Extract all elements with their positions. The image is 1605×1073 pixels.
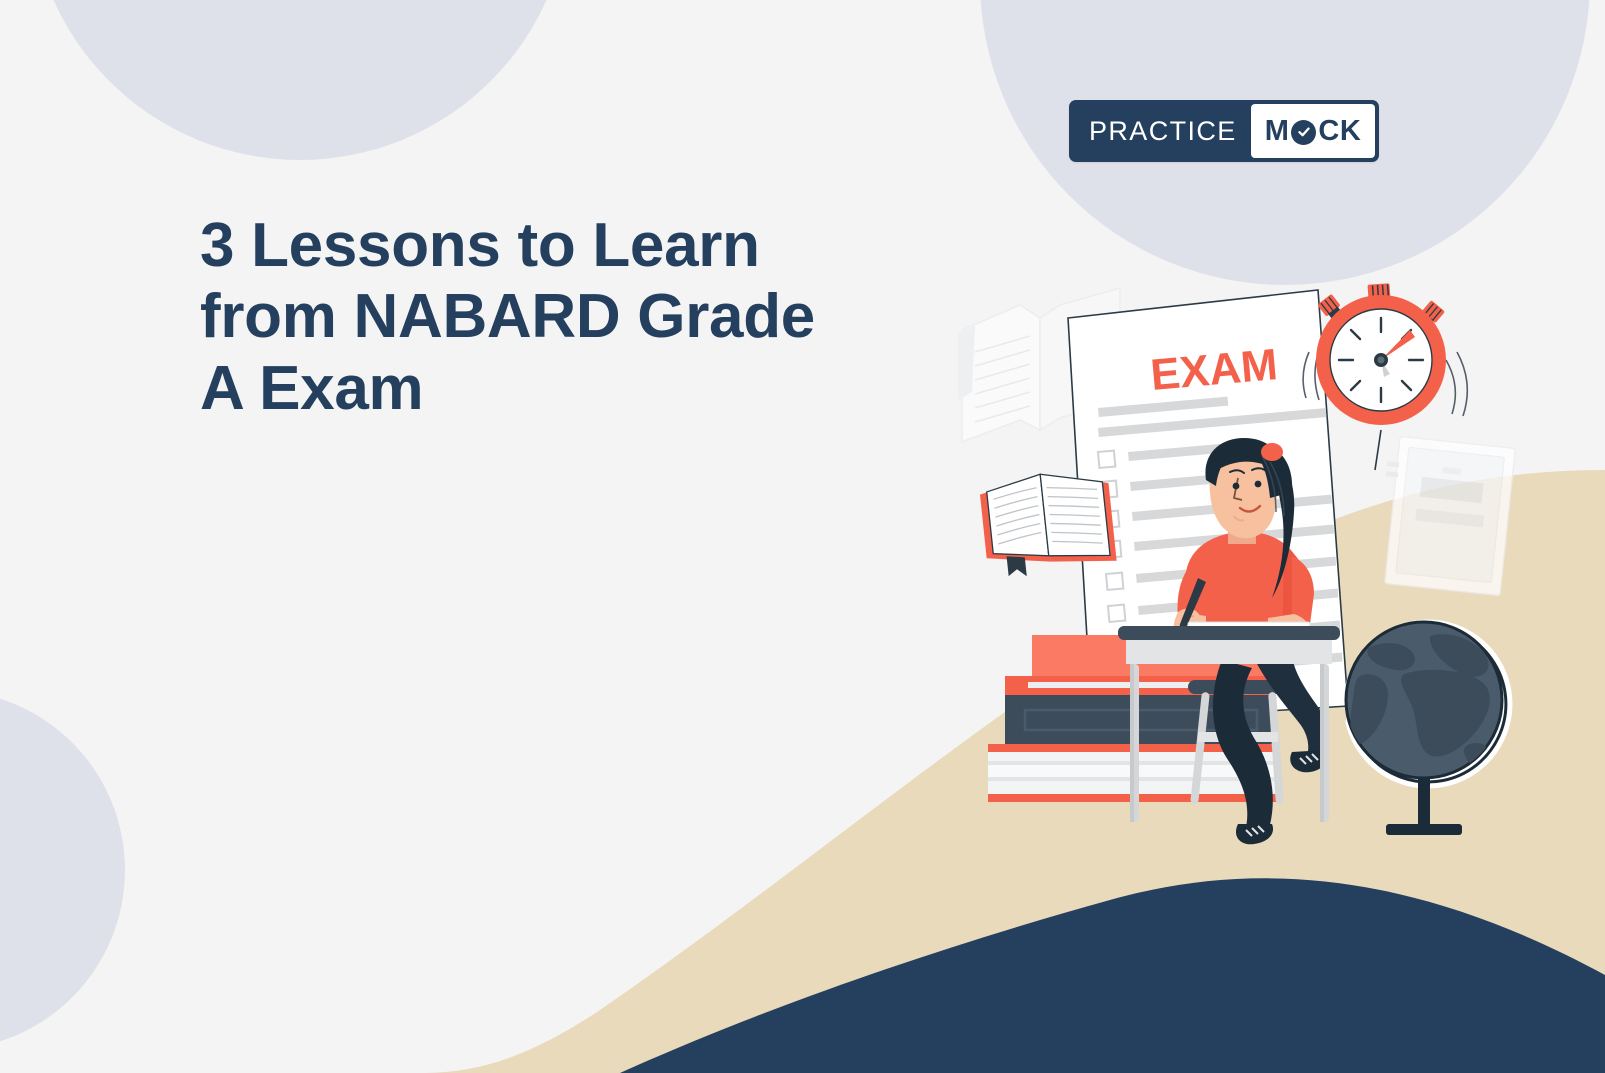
logo-mock-text: M CK: [1251, 104, 1376, 158]
page-title: 3 Lessons to Learn from NABARD Grade A E…: [200, 210, 900, 426]
check-circle-icon: [1291, 120, 1316, 145]
globe-icon: [1346, 622, 1506, 835]
banner-canvas: EXAM: [0, 0, 1605, 1073]
brand-logo[interactable]: PRACTICE M CK: [1069, 100, 1379, 162]
hair-tie: [1261, 443, 1283, 461]
logo-mock-m: M: [1265, 115, 1290, 148]
logo-mock-ck: CK: [1318, 115, 1361, 148]
bookmark-icon: [1007, 554, 1027, 578]
logo-practice-text: PRACTICE: [1073, 104, 1251, 158]
ghost-certificate-icon: [1385, 436, 1516, 595]
